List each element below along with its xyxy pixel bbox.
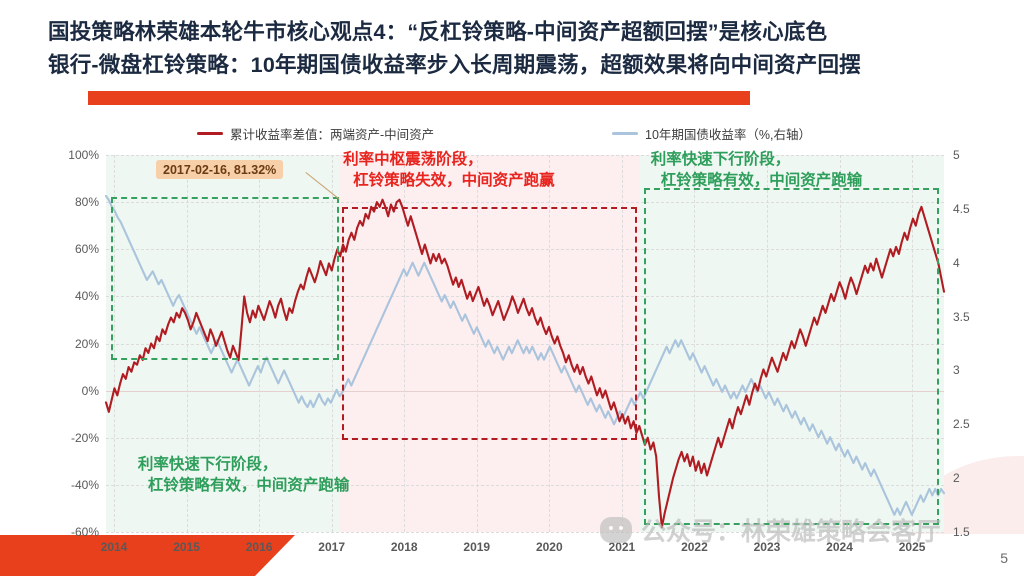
y-axis-right-tick: 3.5 (953, 310, 970, 324)
chart-container: 累计收益率差值：两端资产-中间资产 10年期国债收益率（%,右轴） 100%80… (60, 118, 1010, 538)
x-axis-tick: 2025 (899, 540, 926, 554)
chart-legend: 累计收益率差值：两端资产-中间资产 10年期国债收益率（%,右轴） (60, 120, 1010, 146)
y-axis-left-tick: 60% (75, 242, 99, 256)
gridline-horizontal (106, 532, 944, 533)
y-axis-left-tick: 100% (68, 148, 99, 162)
annotation-line: 杠铃策略有效，中间资产跑输 (661, 171, 863, 192)
legend-item-spread: 累计收益率差值：两端资产-中间资产 (197, 124, 434, 143)
legend-swatch-spread (197, 132, 223, 135)
y-axis-left-tick: 80% (75, 195, 99, 209)
legend-label-yield: 10年期国债收益率（%,右轴） (645, 124, 811, 143)
y-axis-right-tick: 2.5 (953, 417, 970, 431)
x-axis-tick: 2024 (826, 540, 853, 554)
y-axis-right-tick: 2 (953, 471, 960, 485)
annotation-line: 利率快速下行阶段， (651, 150, 863, 171)
page-title: 国投策略林荣雄本轮牛市核心观点4：“反杠铃策略-中间资产超额回摆”是核心底色 银… (48, 16, 1008, 81)
title-line-2: 银行-微盘杠铃策略：10年期国债收益率步入长周期震荡，超额效果将向中间资产回摆 (48, 49, 1008, 82)
x-axis-tick: 2017 (318, 540, 345, 554)
x-axis-tick: 2016 (246, 540, 273, 554)
y-axis-left-tick: -40% (71, 478, 99, 492)
title-underline-bar (88, 91, 750, 105)
y-axis-left-tick: -20% (71, 431, 99, 445)
title-line-1: 国投策略林荣雄本轮牛市核心观点4：“反杠铃策略-中间资产超额回摆”是核心底色 (48, 16, 1008, 49)
y-axis-right-tick: 5 (953, 148, 960, 162)
phase-annotation-green-2: 利率快速下行阶段，杠铃策略有效，中间资产跑输 (138, 455, 350, 497)
legend-label-spread: 累计收益率差值：两端资产-中间资产 (230, 124, 434, 143)
y-axis-right-tick: 3 (953, 363, 960, 377)
y-axis-left-tick: 40% (75, 289, 99, 303)
y-axis-right-tick: 4 (953, 256, 960, 270)
x-axis-tick: 2022 (681, 540, 708, 554)
legend-swatch-yield (612, 132, 638, 135)
y-axis-right-tick: 1.5 (953, 525, 970, 539)
slide: 国投策略林荣雄本轮牛市核心观点4：“反杠铃策略-中间资产超额回摆”是核心底色 银… (0, 0, 1024, 576)
x-axis-tick: 2020 (536, 540, 563, 554)
phase-annotation-green-1: 利率快速下行阶段，杠铃策略有效，中间资产跑输 (651, 150, 863, 192)
highlight-box-green (644, 188, 939, 525)
y-axis-left-tick: 20% (75, 337, 99, 351)
x-axis-tick: 2021 (609, 540, 636, 554)
y-axis-left-tick: -60% (71, 525, 99, 539)
x-axis-tick: 2019 (463, 540, 490, 554)
x-axis-tick: 2014 (101, 540, 128, 554)
legend-item-yield: 10年期国债收益率（%,右轴） (612, 124, 811, 143)
annotation-line: 杠铃策略有效，中间资产跑输 (148, 476, 350, 497)
y-axis-right-tick: 4.5 (953, 202, 970, 216)
highlight-box-red (342, 207, 637, 440)
y-axis-left-tick: 0% (82, 384, 99, 398)
x-axis-tick: 2015 (173, 540, 200, 554)
x-axis-tick: 2023 (754, 540, 781, 554)
page-number: 5 (1000, 550, 1008, 566)
x-axis-tick: 2018 (391, 540, 418, 554)
phase-annotation-red-0: 利率中枢震荡阶段，杠铃策略失效，中间资产跑赢 (343, 150, 555, 192)
annotation-line: 杠铃策略失效，中间资产跑赢 (353, 171, 555, 192)
annotation-line: 利率快速下行阶段， (138, 455, 350, 476)
annotation-line: 利率中枢震荡阶段， (343, 150, 555, 171)
data-point-label: 2017-02-16, 81.32% (156, 160, 283, 179)
highlight-box-green (111, 197, 339, 360)
